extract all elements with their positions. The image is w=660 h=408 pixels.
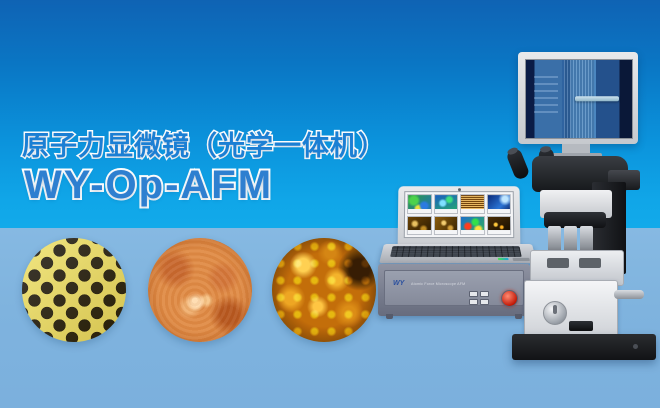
- stage-adjust-knob[interactable]: [614, 290, 644, 299]
- focus-knob[interactable]: [543, 301, 567, 325]
- afm-microscope: [496, 52, 660, 352]
- scan-caption: [408, 209, 431, 213]
- display-monitor: [518, 52, 638, 144]
- page-title: 原子力显微镜（光学一体机）: [22, 124, 386, 163]
- scan-thumbnail[interactable]: [433, 216, 458, 236]
- model-number: WY-Op-AFM: [24, 163, 273, 208]
- scan-caption: [435, 209, 457, 213]
- sample-plate: [569, 321, 593, 331]
- brand-logo: WY: [393, 280, 404, 287]
- scan-caption: [461, 230, 484, 234]
- controller-keypad[interactable]: [469, 291, 489, 305]
- sample-stage: [524, 280, 618, 338]
- keypad-button[interactable]: [469, 291, 478, 297]
- keypad-button[interactable]: [469, 299, 478, 305]
- scan-thumbnail[interactable]: [407, 216, 432, 236]
- sample-image-gold-granular: [272, 238, 376, 342]
- scan-thumbnail[interactable]: [460, 194, 484, 213]
- monitor-screen: [525, 59, 633, 139]
- keypad-button[interactable]: [480, 291, 489, 297]
- sample-image-copper-topography: [148, 238, 252, 342]
- scan-caption: [408, 230, 431, 234]
- scanner-slot: [579, 258, 601, 268]
- controller-label: Atomic Force Microscope AFM: [411, 282, 465, 286]
- scan-caption: [461, 209, 483, 213]
- scan-thumbnail[interactable]: [434, 194, 458, 213]
- scan-caption: [434, 230, 457, 234]
- keypad-button[interactable]: [480, 299, 489, 305]
- granite-base: [512, 334, 656, 360]
- sample-image-dot-array: [22, 238, 126, 342]
- scan-thumbnail[interactable]: [460, 216, 485, 236]
- scan-thumbnail[interactable]: [407, 194, 432, 213]
- controller-foot: [386, 314, 393, 319]
- scanner-slot: [547, 258, 569, 268]
- cantilever-probe-icon: [575, 96, 620, 101]
- monitor-neck: [562, 144, 590, 153]
- banner-root: 原子力显微镜（光学一体机） WY-Op-AFM: [0, 0, 660, 408]
- eyepiece-left: [505, 147, 530, 180]
